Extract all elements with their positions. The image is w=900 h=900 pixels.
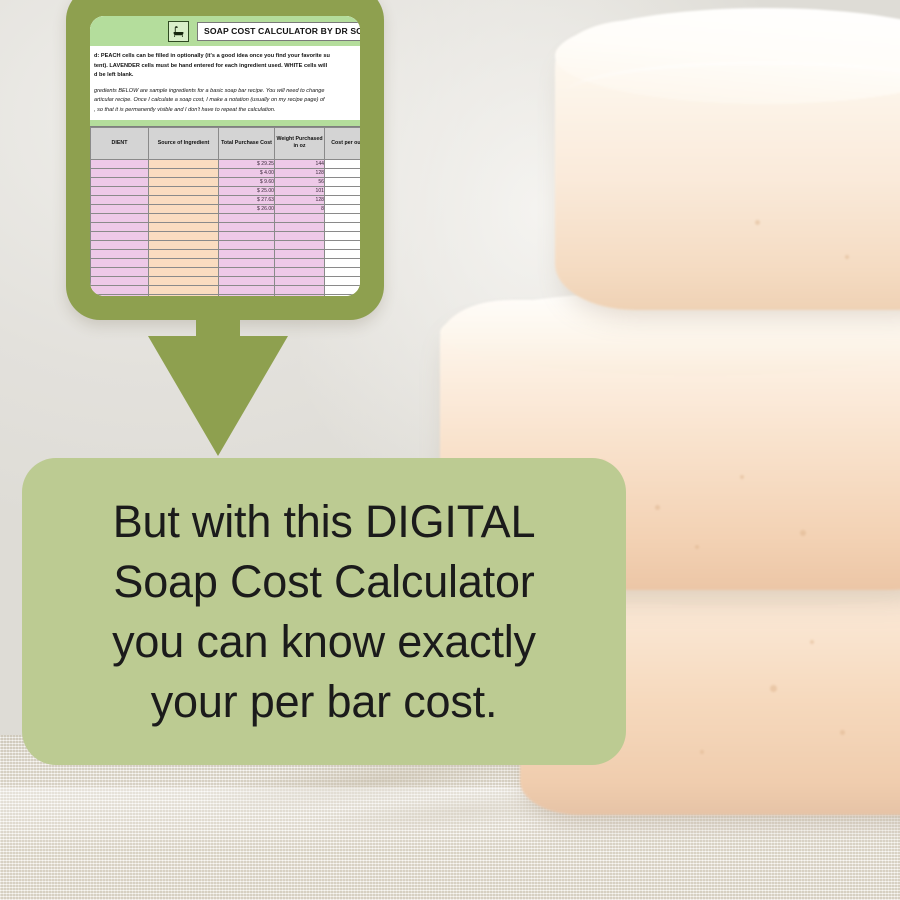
cell-weight-oz[interactable] xyxy=(275,213,325,222)
cell-total-cost[interactable]: $ 26.00 xyxy=(219,204,275,213)
table-row: $ 29.25144$ 0.2016 xyxy=(91,159,361,168)
cell-ingredient[interactable] xyxy=(91,240,149,249)
cell-source[interactable] xyxy=(149,204,219,213)
soap-speck xyxy=(740,475,744,479)
cell-ingredient[interactable] xyxy=(91,231,149,240)
cell-ingredient[interactable] xyxy=(91,168,149,177)
callout-bubble: But with this DIGITAL Soap Cost Calculat… xyxy=(22,458,626,765)
spreadsheet-title: SOAP COST CALCULATOR BY DR SOAPE xyxy=(197,22,360,41)
soap-speck xyxy=(755,220,760,225)
cell-weight-oz[interactable] xyxy=(275,222,325,231)
cell-cost-per-oz[interactable] xyxy=(325,231,361,240)
cell-ingredient[interactable] xyxy=(91,222,149,231)
col-weight-oz: Weight Purchased in oz xyxy=(275,127,325,159)
soap-bar-top xyxy=(555,20,900,310)
cell-ingredient[interactable] xyxy=(91,186,149,195)
cell-weight-oz[interactable] xyxy=(275,240,325,249)
cell-cost-per-oz[interactable] xyxy=(325,240,361,249)
cell-weight-oz[interactable]: 8 xyxy=(275,204,325,213)
spreadsheet-screenshot: SOAP COST CALCULATOR BY DR SOAPE d: PEAC… xyxy=(90,16,360,296)
cell-source[interactable] xyxy=(149,276,219,285)
cell-cost-per-oz[interactable]: $ 0.25 xyxy=(325,186,361,195)
cell-cost-per-oz[interactable]: $ 3.25 xyxy=(325,204,361,213)
cell-source[interactable] xyxy=(149,186,219,195)
bathtub-icon xyxy=(168,21,189,42)
cell-cost-per-oz[interactable]: $ 0.17 xyxy=(325,177,361,186)
cell-total-cost[interactable] xyxy=(219,258,275,267)
cell-total-cost[interactable] xyxy=(219,285,275,294)
cell-source[interactable] xyxy=(149,267,219,276)
instruction-line: tent). LAVENDER cells must be hand enter… xyxy=(94,62,360,72)
instruction-line-italic: articular recipe. Once I calculate a soa… xyxy=(94,96,360,106)
cell-source[interactable] xyxy=(149,159,219,168)
cell-source[interactable] xyxy=(149,249,219,258)
cell-cost-per-oz[interactable]: $ 0.03 xyxy=(325,168,361,177)
cell-total-cost[interactable] xyxy=(219,276,275,285)
table-row xyxy=(91,231,361,240)
cell-source[interactable] xyxy=(149,177,219,186)
soap-speck xyxy=(845,255,849,259)
cell-cost-per-oz[interactable] xyxy=(325,285,361,294)
cell-ingredient[interactable] xyxy=(91,204,149,213)
spreadsheet-title-bar: SOAP COST CALCULATOR BY DR SOAPE xyxy=(90,16,360,46)
cell-ingredient[interactable] xyxy=(91,285,149,294)
ingredient-cost-table: DIENT Source of Ingredient Total Purchas… xyxy=(90,127,360,296)
cell-cost-per-oz[interactable] xyxy=(325,267,361,276)
col-total-cost: Total Purchase Cost xyxy=(219,127,275,159)
cell-source[interactable] xyxy=(149,231,219,240)
cell-total-cost[interactable]: $ 27.63 xyxy=(219,195,275,204)
callout-line-2: Soap Cost Calculator xyxy=(112,552,536,612)
soap-speck xyxy=(840,730,845,735)
soap-speck xyxy=(655,505,660,510)
callout-line-4: your per bar cost. xyxy=(112,672,536,732)
cell-total-cost[interactable] xyxy=(219,267,275,276)
cell-source[interactable] xyxy=(149,258,219,267)
callout-line-3: you can know exactly xyxy=(112,612,536,672)
instruction-line: d be left blank. xyxy=(94,71,360,81)
soap-speck xyxy=(700,750,704,754)
cell-ingredient[interactable] xyxy=(91,294,149,296)
cell-ingredient[interactable] xyxy=(91,267,149,276)
cell-total-cost[interactable] xyxy=(219,213,275,222)
table-row xyxy=(91,267,361,276)
cell-cost-per-oz[interactable] xyxy=(325,249,361,258)
table-row xyxy=(91,222,361,231)
table-row: $ 26.008$ 3.255 xyxy=(91,204,361,213)
cell-cost-per-oz[interactable] xyxy=(325,222,361,231)
cell-total-cost[interactable] xyxy=(219,294,275,296)
cell-source[interactable] xyxy=(149,222,219,231)
instruction-line-italic: gredients BELOW are sample ingredients f… xyxy=(94,87,360,97)
cell-weight-oz[interactable] xyxy=(275,276,325,285)
col-source: Source of Ingredient xyxy=(149,127,219,159)
table-body: $ 29.25144$ 0.2016$ 4.00128$ 0.0332$ 9.6… xyxy=(91,159,361,296)
cell-total-cost[interactable] xyxy=(219,249,275,258)
cell-weight-oz[interactable] xyxy=(275,249,325,258)
cell-cost-per-oz[interactable] xyxy=(325,276,361,285)
cell-weight-oz[interactable] xyxy=(275,267,325,276)
cell-source[interactable] xyxy=(149,168,219,177)
cell-cost-per-oz[interactable] xyxy=(325,213,361,222)
soap-speck xyxy=(810,640,814,644)
cell-ingredient[interactable] xyxy=(91,213,149,222)
table-row: $ 4.00128$ 0.0332 xyxy=(91,168,361,177)
col-cost-per-ounce: Cost per ounce xyxy=(325,127,361,159)
cell-weight-oz[interactable]: 101 xyxy=(275,186,325,195)
table-row xyxy=(91,258,361,267)
table-row: $ 25.00101$ 0.2532 xyxy=(91,186,361,195)
callout-line-1: But with this DIGITAL xyxy=(112,492,536,552)
table-row xyxy=(91,249,361,258)
soap-speck xyxy=(695,545,699,549)
cell-cost-per-oz[interactable] xyxy=(325,294,361,296)
cell-ingredient[interactable] xyxy=(91,159,149,168)
table-row xyxy=(91,240,361,249)
cell-total-cost[interactable] xyxy=(219,231,275,240)
cell-weight-oz[interactable]: 56 xyxy=(275,177,325,186)
cell-ingredient[interactable] xyxy=(91,258,149,267)
cell-weight-oz[interactable] xyxy=(275,231,325,240)
cell-weight-oz[interactable]: 128 xyxy=(275,168,325,177)
callout-text: But with this DIGITAL Soap Cost Calculat… xyxy=(98,492,550,732)
cell-total-cost[interactable]: $ 25.00 xyxy=(219,186,275,195)
cell-total-cost[interactable] xyxy=(219,240,275,249)
table-row: $ 9.6056$ 0.1732 xyxy=(91,177,361,186)
spreadsheet-green-band xyxy=(90,120,360,127)
cell-weight-oz[interactable] xyxy=(275,285,325,294)
cell-source[interactable] xyxy=(149,285,219,294)
cell-source[interactable] xyxy=(149,294,219,296)
cell-weight-oz[interactable] xyxy=(275,294,325,296)
cell-cost-per-oz[interactable]: $ 0.22 xyxy=(325,195,361,204)
soap-speck xyxy=(770,685,777,692)
cell-source[interactable] xyxy=(149,240,219,249)
cell-weight-oz[interactable]: 128 xyxy=(275,195,325,204)
table-row xyxy=(91,213,361,222)
instruction-line: d: PEACH cells can be filled in optional… xyxy=(94,52,360,62)
cell-weight-oz[interactable] xyxy=(275,258,325,267)
soap-speck xyxy=(800,530,806,536)
table-row xyxy=(91,294,361,296)
cell-ingredient[interactable] xyxy=(91,195,149,204)
cell-ingredient[interactable] xyxy=(91,249,149,258)
spreadsheet-sheet: SOAP COST CALCULATOR BY DR SOAPE d: PEAC… xyxy=(90,16,360,296)
cell-cost-per-oz[interactable] xyxy=(325,258,361,267)
spreadsheet-card: SOAP COST CALCULATOR BY DR SOAPE d: PEAC… xyxy=(66,0,384,320)
cell-cost-per-oz[interactable]: $ 0.20 xyxy=(325,159,361,168)
cell-total-cost[interactable]: $ 4.00 xyxy=(219,168,275,177)
cell-total-cost[interactable] xyxy=(219,222,275,231)
table-header-row: DIENT Source of Ingredient Total Purchas… xyxy=(91,127,361,159)
table-row xyxy=(91,285,361,294)
table-row xyxy=(91,276,361,285)
cell-source[interactable] xyxy=(149,213,219,222)
col-ingredient: DIENT xyxy=(91,127,149,159)
cell-source[interactable] xyxy=(149,195,219,204)
cell-weight-oz[interactable]: 144 xyxy=(275,159,325,168)
instruction-line-italic: , so that it is permanently visible and … xyxy=(94,106,360,116)
cell-ingredient[interactable] xyxy=(91,177,149,186)
spreadsheet-instructions: d: PEACH cells can be filled in optional… xyxy=(90,46,360,120)
table-row: $ 27.63128$ 0.2228 xyxy=(91,195,361,204)
cell-ingredient[interactable] xyxy=(91,276,149,285)
cell-total-cost[interactable]: $ 29.25 xyxy=(219,159,275,168)
cell-total-cost[interactable]: $ 9.60 xyxy=(219,177,275,186)
